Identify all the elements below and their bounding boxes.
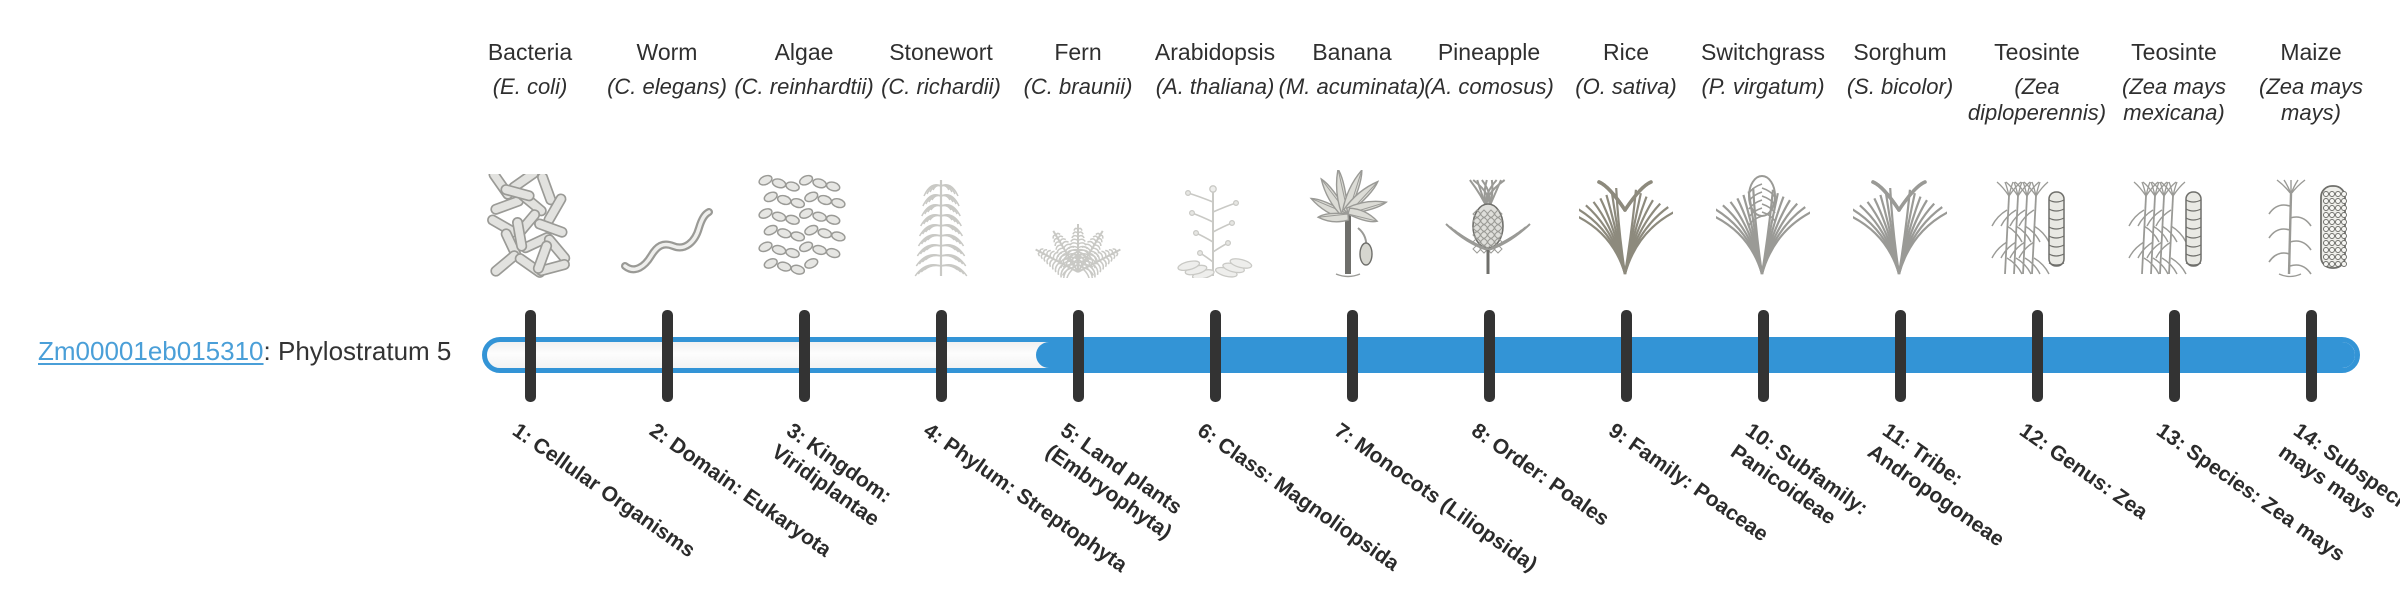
species-latin-name: (C. braunii) — [1003, 74, 1153, 100]
species-common-name: Algae — [729, 38, 879, 66]
phylostratum-progress-fill — [1036, 342, 2355, 368]
phylostratum-tick[interactable] — [1210, 310, 1221, 402]
species-column: Teosinte(Zea mays mexicana) — [2099, 38, 2249, 126]
teosinte-icon — [1962, 168, 2112, 278]
nematode-worm-icon — [592, 168, 742, 278]
species-column: Bacteria(E. coli) — [455, 38, 605, 100]
species-common-name: Teosinte — [1962, 38, 2112, 66]
stonewort-icon — [866, 168, 1016, 278]
rice-grass-icon — [1551, 168, 1701, 278]
species-common-name: Teosinte — [2099, 38, 2249, 66]
pineapple-icon — [1414, 168, 1564, 278]
phylostratum-tick[interactable] — [799, 310, 810, 402]
phylostratigraphy-timeline: Zm00001eb015310: Phylostratum 5 Bacteria… — [0, 0, 2400, 580]
species-latin-name: (Zea diploperennis) — [1962, 74, 2112, 126]
gene-id-link[interactable]: Zm00001eb015310 — [38, 336, 264, 366]
species-latin-name: (A. comosus) — [1414, 74, 1564, 100]
phylostratum-tick[interactable] — [1073, 310, 1084, 402]
species-latin-name: (A. thaliana) — [1140, 74, 1290, 100]
species-latin-name: (C. reinhardtii) — [729, 74, 879, 100]
phylostratum-value: Phylostratum 5 — [278, 336, 451, 366]
green-algae-icon — [729, 168, 879, 278]
species-latin-name: (P. virgatum) — [1688, 74, 1838, 100]
phylostratum-tick[interactable] — [1484, 310, 1495, 402]
species-column: Teosinte(Zea diploperennis) — [1962, 38, 2112, 126]
species-latin-name: (M. acuminata) — [1277, 74, 1427, 100]
species-column: Pineapple(A. comosus) — [1414, 38, 1564, 100]
species-latin-name: (Zea mays mexicana) — [2099, 74, 2249, 126]
species-column: Worm(C. elegans) — [592, 38, 742, 100]
species-latin-name: (E. coli) — [455, 74, 605, 100]
species-latin-name: (Zea mays mays) — [2236, 74, 2386, 126]
species-common-name: Stonewort — [866, 38, 1016, 66]
species-common-name: Banana — [1277, 38, 1427, 66]
species-common-name: Pineapple — [1414, 38, 1564, 66]
species-latin-name: (O. sativa) — [1551, 74, 1701, 100]
species-common-name: Maize — [2236, 38, 2386, 66]
species-common-name: Fern — [1003, 38, 1153, 66]
species-column: Sorghum(S. bicolor) — [1825, 38, 1975, 100]
species-column: Banana(M. acuminata) — [1277, 38, 1427, 100]
phylostratum-tick[interactable] — [525, 310, 536, 402]
species-common-name: Rice — [1551, 38, 1701, 66]
species-column: Switchgrass(P. virgatum) — [1688, 38, 1838, 100]
gene-label-separator: : — [264, 336, 278, 366]
fern-frond-icon — [1003, 168, 1153, 278]
phylostratum-tick[interactable] — [936, 310, 947, 402]
species-column: Maize(Zea mays mays) — [2236, 38, 2386, 126]
phylostratum-tick[interactable] — [1895, 310, 1906, 402]
banana-plant-icon — [1277, 168, 1427, 278]
phylostratum-tick[interactable] — [2032, 310, 2043, 402]
phylostratum-tick[interactable] — [1347, 310, 1358, 402]
species-common-name: Sorghum — [1825, 38, 1975, 66]
species-latin-name: (C. elegans) — [592, 74, 742, 100]
maize-cob-icon — [2236, 168, 2386, 278]
switchgrass-icon — [1688, 168, 1838, 278]
phylostratum-progress-track[interactable] — [482, 337, 2360, 373]
gene-phylostratum-label: Zm00001eb015310: Phylostratum 5 — [38, 335, 451, 367]
bacteria-rods-icon — [455, 168, 605, 278]
teosinte-icon — [2099, 168, 2249, 278]
sorghum-icon — [1825, 168, 1975, 278]
species-column: Arabidopsis(A. thaliana) — [1140, 38, 1290, 100]
species-column: Rice(O. sativa) — [1551, 38, 1701, 100]
species-latin-name: (S. bicolor) — [1825, 74, 1975, 100]
phylostratum-tick[interactable] — [1621, 310, 1632, 402]
phylostratum-tick[interactable] — [2169, 310, 2180, 402]
species-column: Fern(C. braunii) — [1003, 38, 1153, 100]
species-latin-name: (C. richardii) — [866, 74, 1016, 100]
species-column: Algae(C. reinhardtii) — [729, 38, 879, 100]
species-common-name: Bacteria — [455, 38, 605, 66]
species-common-name: Worm — [592, 38, 742, 66]
phylostratum-tick[interactable] — [662, 310, 673, 402]
phylostratum-tick[interactable] — [2306, 310, 2317, 402]
species-column: Stonewort(C. richardii) — [866, 38, 1016, 100]
species-common-name: Switchgrass — [1688, 38, 1838, 66]
species-common-name: Arabidopsis — [1140, 38, 1290, 66]
arabidopsis-icon — [1140, 168, 1290, 278]
phylostratum-tick[interactable] — [1758, 310, 1769, 402]
